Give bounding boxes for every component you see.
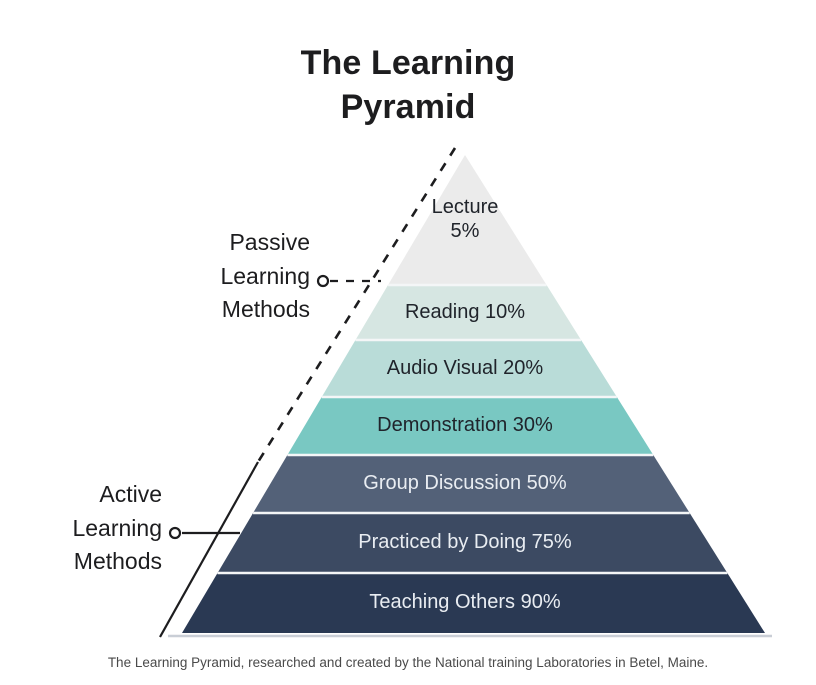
annotation-active-line-2: Learning xyxy=(20,512,162,546)
active-marker-circle-icon xyxy=(170,528,180,538)
annotation-passive-line-3: Methods xyxy=(165,293,310,327)
annotation-active-line-1: Active xyxy=(20,478,162,512)
figure-caption: The Learning Pyramid, researched and cre… xyxy=(0,655,816,670)
annotation-passive-line-2: Learning xyxy=(165,260,310,294)
annotation-passive-line-1: Passive xyxy=(165,226,310,260)
pyramid-band-demonstration[interactable] xyxy=(150,397,790,455)
pyramid-band-practiced-by-doing[interactable] xyxy=(150,513,790,573)
passive-marker-circle-icon xyxy=(318,276,328,286)
pyramid-band-teaching-others[interactable] xyxy=(150,573,790,633)
annotation-active-learning-methods: Active Learning Methods xyxy=(20,478,162,579)
annotation-active-line-3: Methods xyxy=(20,545,162,579)
diagram-canvas: The Learning Pyramid Passive Lear xyxy=(0,0,816,685)
annotation-passive-learning-methods: Passive Learning Methods xyxy=(165,226,310,327)
pyramid-band-audio-visual[interactable] xyxy=(150,340,790,397)
pyramid-graphic xyxy=(0,0,816,685)
